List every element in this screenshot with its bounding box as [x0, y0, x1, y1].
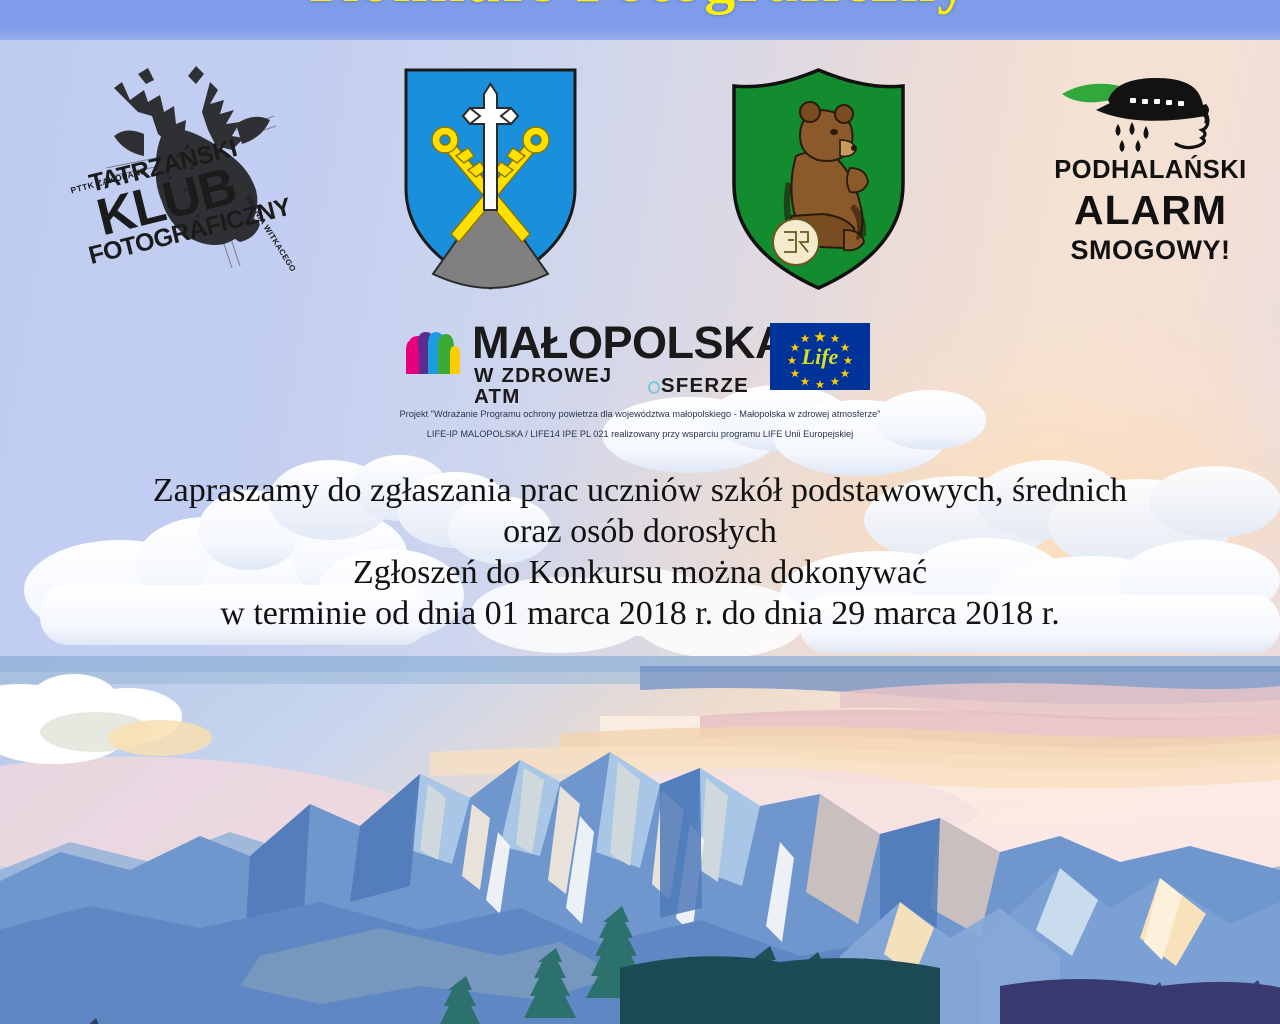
poster-canvas: Konkurs Fotograficzny [0, 0, 1280, 1024]
tpn-bear-shield-icon [726, 64, 911, 294]
body-line-4: w terminie od dnia 01 marca 2018 r. do d… [0, 593, 1280, 634]
malopolska-wordmark: MAŁOPOLSKA [472, 320, 787, 365]
logo-herb-zakopanego [398, 64, 583, 294]
pas-wordmark: PODHALAŃSKI ALARM SMOGOWY! [1048, 156, 1253, 266]
malopolska-logo: MAŁOPOLSKA W ZDROWEJ ATM SFERZE [404, 322, 749, 394]
body-line-3: Zgłoszeń do Konkursu można dokonywać [0, 552, 1280, 593]
pas-line-smogowy: SMOGOWY! [1048, 235, 1253, 266]
malopolska-m-icon [404, 328, 462, 376]
highlander-hat-profile-icon [1056, 70, 1261, 156]
pas-line-podhalanski: PODHALAŃSKI [1048, 156, 1253, 185]
atmosfera-o-icon [648, 381, 660, 394]
logo-row: PTTK ZAKOPANE TATRZAŃSKI KLUB FOTOGRAFIC… [0, 52, 1280, 292]
tagline-after: SFERZE [661, 376, 749, 397]
body-text-block: Zapraszamy do zgłaszania prac uczniów sz… [0, 470, 1280, 634]
fineprint-line-1: Projekt "Wdrażanie Programu ochrony powi… [0, 404, 1280, 424]
pas-line-alarm: ALARM [1048, 187, 1253, 234]
malopolska-tagline: W ZDROWEJ ATM SFERZE [474, 366, 749, 407]
fineprint-line-2: LIFE-IP MALOPOLSKA / LIFE14 IPE PL 021 r… [0, 424, 1280, 444]
malopolska-logo-row: MAŁOPOLSKA W ZDROWEJ ATM SFERZE [0, 322, 1280, 398]
tagline-before: W ZDROWEJ ATM [474, 366, 647, 407]
banner-fade [0, 26, 1280, 40]
top-banner: Konkurs Fotograficzny [0, 0, 1280, 40]
body-line-1: Zapraszamy do zgłaszania prac uczniów sz… [0, 470, 1280, 511]
svg-text:Life: Life [801, 344, 839, 369]
banner-title: Konkurs Fotograficzny [0, 0, 1280, 17]
eu-life-logo-icon: Life [770, 323, 870, 390]
body-line-2: oraz osób dorosłych [0, 511, 1280, 552]
zakopane-coat-of-arms-icon [398, 64, 583, 294]
logo-tatrzanski-klub-fotograficzny: PTTK ZAKOPANE TATRZAŃSKI KLUB FOTOGRAFIC… [60, 60, 300, 305]
logo-podhalanski-alarm-smogowy: PODHALAŃSKI ALARM SMOGOWY! [1048, 70, 1253, 295]
mountain-landscape-illustration [0, 656, 1280, 1024]
fineprint-block: Projekt "Wdrażanie Programu ochrony powi… [0, 404, 1280, 444]
logo-tatrzanski-park-narodowy [726, 64, 911, 294]
